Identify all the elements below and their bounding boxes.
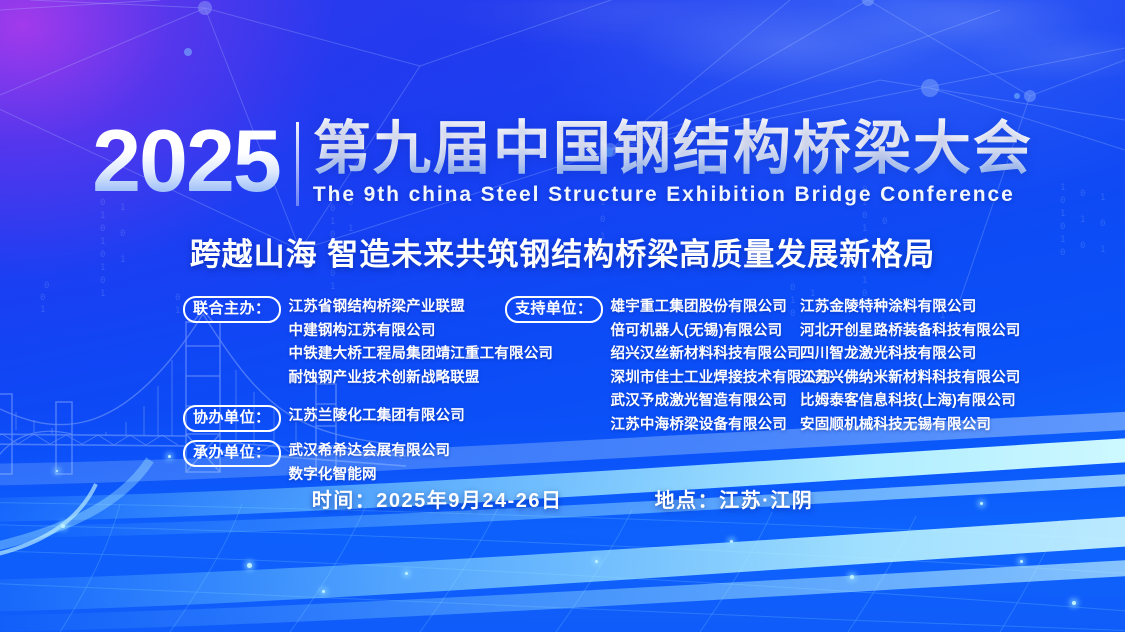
list-item: 绍兴汉丝新材料科技有限公司 [611,343,832,367]
list-item: 江苏中海桥梁设备有限公司 [611,414,832,438]
organizer-group: 支持单位： 雄宇重工集团股份有限公司 倍可机器人(无锡)有限公司 绍兴汉丝新材料… [505,296,831,437]
list-item: 江苏兴佛纳米新材料科技有限公司 [800,367,1021,391]
title-row: 2025 第九届中国钢结构桥梁大会 The 9th china Steel St… [0,118,1125,207]
list-item: 江苏金陵特种涂料有限公司 [800,296,1021,320]
title-divider [296,122,299,206]
label-undertaker: 承办单位： [183,440,281,467]
organizer-names: 江苏兰陵化工集团有限公司 [289,405,465,429]
organizer-names: 江苏金陵特种涂料有限公司 河北开创星路桥装备科技有限公司 四川智龙激光科技有限公… [800,296,1021,437]
organizer-column-middle: 支持单位： 雄宇重工集团股份有限公司 倍可机器人(无锡)有限公司 绍兴汉丝新材料… [505,296,831,437]
organizer-group: 协办单位： 江苏兰陵化工集团有限公司 [183,405,553,432]
list-item: 比姆泰客信息科技(上海)有限公司 [800,390,1021,414]
list-item: 武汉予成激光智造有限公司 [611,390,832,414]
year-2025: 2025 [92,118,296,204]
title-block: 第九届中国钢结构桥梁大会 The 9th china Steel Structu… [313,118,1033,207]
list-item: 倍可机器人(无锡)有限公司 [611,320,832,344]
title-english: The 9th china Steel Structure Exhibition… [313,183,1033,207]
organizer-group: 联合主办： 江苏省钢结构桥梁产业联盟 中建钢构江苏有限公司 中铁建大桥工程局集团… [183,296,553,390]
place-value: 江苏·江阴 [719,490,813,512]
organizer-column-left: 联合主办： 江苏省钢结构桥梁产业联盟 中建钢构江苏有限公司 中铁建大桥工程局集团… [183,296,553,487]
list-item: 四川智龙激光科技有限公司 [800,343,1021,367]
banner-content: 2025 第九届中国钢结构桥梁大会 The 9th china Steel St… [0,0,1125,632]
place-label: 地点： [655,490,720,512]
list-item: 深圳市佳士工业焊接技术有限公司 [611,367,832,391]
label-co-host: 联合主办： [183,296,281,323]
conference-banner: 010 010 101 01 101 01 101 001 01 010 101… [0,0,1125,632]
organizer-names: 雄宇重工集团股份有限公司 倍可机器人(无锡)有限公司 绍兴汉丝新材料科技有限公司… [611,296,832,437]
list-item: 雄宇重工集团股份有限公司 [611,296,832,320]
date-label: 时间： [312,490,377,512]
label-supporter: 支持单位： [505,296,603,323]
list-item: 武汉希希达会展有限公司 [289,440,451,464]
title-chinese: 第九届中国钢结构桥梁大会 [313,118,1033,180]
organizer-column-right: 江苏金陵特种涂料有限公司 河北开创星路桥装备科技有限公司 四川智龙激光科技有限公… [800,296,1021,437]
list-item: 河北开创星路桥装备科技有限公司 [800,320,1021,344]
event-details: 时间：2025年9月24-26日 地点：江苏·江阴 [0,484,1125,513]
list-item: 安固顺机械科技无锡有限公司 [800,414,1021,438]
organizer-names: 武汉希希达会展有限公司 数字化智能网 [289,440,451,487]
slogan: 跨越山海 智造未来共筑钢结构桥梁高质量发展新格局 [0,236,1125,274]
date-value: 2025年9月24-26日 [376,490,562,512]
organizer-group: 承办单位： 武汉希希达会展有限公司 数字化智能网 [183,440,553,487]
list-item: 江苏兰陵化工集团有限公司 [289,405,465,429]
label-co-organizer: 协办单位： [183,405,281,432]
organizers-section: 联合主办： 江苏省钢结构桥梁产业联盟 中建钢构江苏有限公司 中铁建大桥工程局集团… [0,296,1125,456]
